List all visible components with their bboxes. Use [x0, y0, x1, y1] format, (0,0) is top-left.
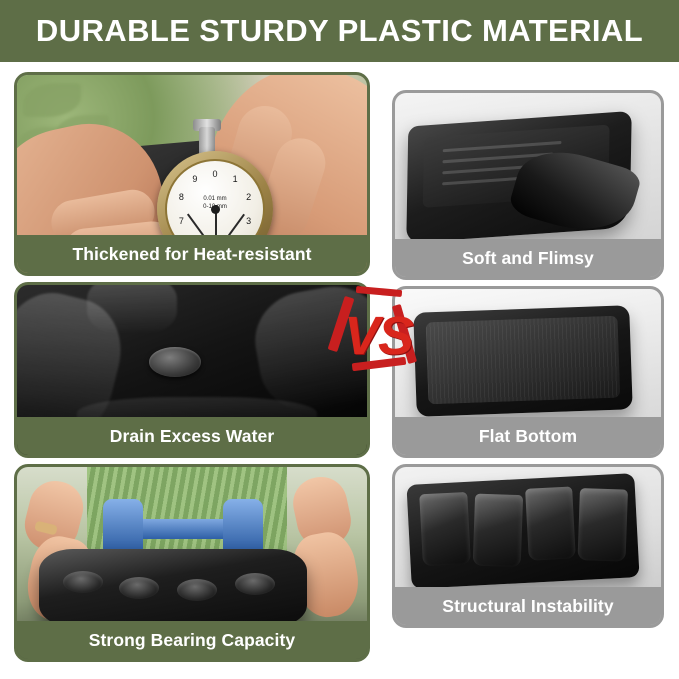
- tray-cell: [63, 571, 103, 593]
- tray-ridge: [87, 285, 177, 335]
- vs-label: VS: [330, 290, 426, 382]
- flat-bottom-tray: [413, 305, 632, 416]
- caption-flat-bottom: Flat Bottom: [395, 417, 661, 455]
- tray-rib: [442, 141, 561, 152]
- panel-structural-instability: Structural Instability: [392, 464, 664, 628]
- tray-flat-surface: [426, 316, 621, 405]
- panel-strong-bearing-capacity: Strong Bearing Capacity: [14, 464, 370, 662]
- caption-strong-bearing-capacity: Strong Bearing Capacity: [17, 621, 367, 659]
- header-banner: DURABLE STURDY PLASTIC MATERIAL: [0, 0, 679, 62]
- dial-subtext-1: 0.01 mm: [203, 196, 226, 202]
- caption-soft-and-flimsy: Soft and Flimsy: [395, 239, 661, 277]
- dial-number: 8: [179, 192, 184, 202]
- tray-cell: [525, 486, 576, 560]
- dial-number: 9: [192, 174, 197, 184]
- dial-number: 2: [246, 192, 251, 202]
- vs-badge: VS: [330, 290, 426, 382]
- tray-cell: [472, 494, 522, 568]
- panel-thickened-heat-resistant: 0 1 2 3 4 5 6 7 8 9 0.01 mm 0-10 mm Thic…: [14, 72, 370, 276]
- caption-structural-instability: Structural Instability: [395, 587, 661, 625]
- page-title: DURABLE STURDY PLASTIC MATERIAL: [36, 13, 643, 49]
- dial-number: 7: [179, 216, 184, 226]
- caption-thickened-heat-resistant: Thickened for Heat-resistant: [17, 235, 367, 273]
- panel-drain-excess-water: Drain Excess Water: [14, 282, 370, 458]
- panel-soft-and-flimsy: Soft and Flimsy: [392, 90, 664, 280]
- panel-flat-bottom: Flat Bottom: [392, 286, 664, 458]
- tray-cell: [419, 492, 470, 566]
- dial-number: 0: [212, 169, 217, 179]
- tray-cell: [177, 579, 217, 601]
- tray-cell: [235, 573, 275, 595]
- collapsing-cells-row: [419, 484, 628, 567]
- infographic-root: DURABLE STURDY PLASTIC MATERIAL: [0, 0, 679, 679]
- caption-drain-excess-water: Drain Excess Water: [17, 417, 367, 455]
- drain-hole: [149, 347, 201, 377]
- dial-number: 3: [246, 216, 251, 226]
- tray-cell: [578, 488, 628, 562]
- dial-number: 1: [233, 174, 238, 184]
- tray-cell: [119, 577, 159, 599]
- dial-hub: [211, 205, 220, 214]
